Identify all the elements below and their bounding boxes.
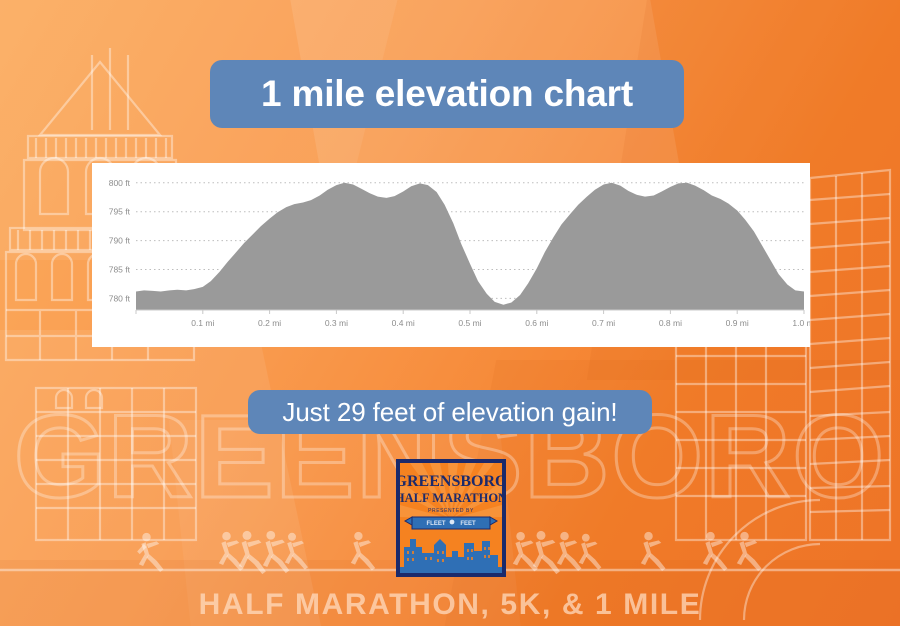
- logo-sponsor-right: FEET: [460, 521, 476, 527]
- x-tick-label: 0.7 mi: [592, 318, 615, 328]
- title-text: 1 mile elevation chart: [261, 73, 633, 115]
- elevation-chart-poster: GREENSBORO 1 mile elevation chart 780 ft…: [0, 0, 900, 626]
- x-tick-label: 0.8 mi: [659, 318, 682, 328]
- logo-line1: GREENSBORO: [396, 473, 506, 490]
- x-tick-label: 1.0 mi: [792, 318, 810, 328]
- logo-sponsor-ribbon: FLEET FEET: [405, 517, 497, 529]
- logo-line2: HALF MARATHON: [396, 491, 506, 505]
- y-tick-label: 800 ft: [109, 178, 131, 188]
- subtitle-text: Just 29 feet of elevation gain!: [282, 397, 617, 428]
- y-tick-label: 785 ft: [109, 265, 131, 275]
- x-tick-label: 0.6 mi: [525, 318, 548, 328]
- x-tick-label: 0.9 mi: [726, 318, 749, 328]
- subtitle-banner: Just 29 feet of elevation gain!: [248, 390, 652, 434]
- x-tick-label: 0.1 mi: [191, 318, 214, 328]
- x-tick-label: 0.3 mi: [325, 318, 348, 328]
- race-logo-badge: GREENSBORO HALF MARATHON PRESENTED BY FL…: [396, 459, 506, 577]
- logo-sponsor-left: FLEET: [427, 521, 446, 527]
- y-tick-label: 795 ft: [109, 207, 131, 217]
- race-tagline: HALF MARATHON, 5K, & 1 MILE: [0, 588, 900, 622]
- x-tick-label: 0.5 mi: [458, 318, 481, 328]
- y-tick-label: 790 ft: [109, 236, 131, 246]
- x-tick-label: 0.2 mi: [258, 318, 281, 328]
- elevation-chart-panel: 780 ft785 ft790 ft795 ft800 ft 0.1 mi0.2…: [92, 163, 810, 347]
- title-banner: 1 mile elevation chart: [210, 60, 684, 128]
- x-tick-label: 0.4 mi: [392, 318, 415, 328]
- y-tick-label: 780 ft: [109, 293, 131, 303]
- logo-presented-by: PRESENTED BY: [428, 508, 474, 514]
- elevation-chart: 780 ft785 ft790 ft795 ft800 ft 0.1 mi0.2…: [92, 163, 810, 347]
